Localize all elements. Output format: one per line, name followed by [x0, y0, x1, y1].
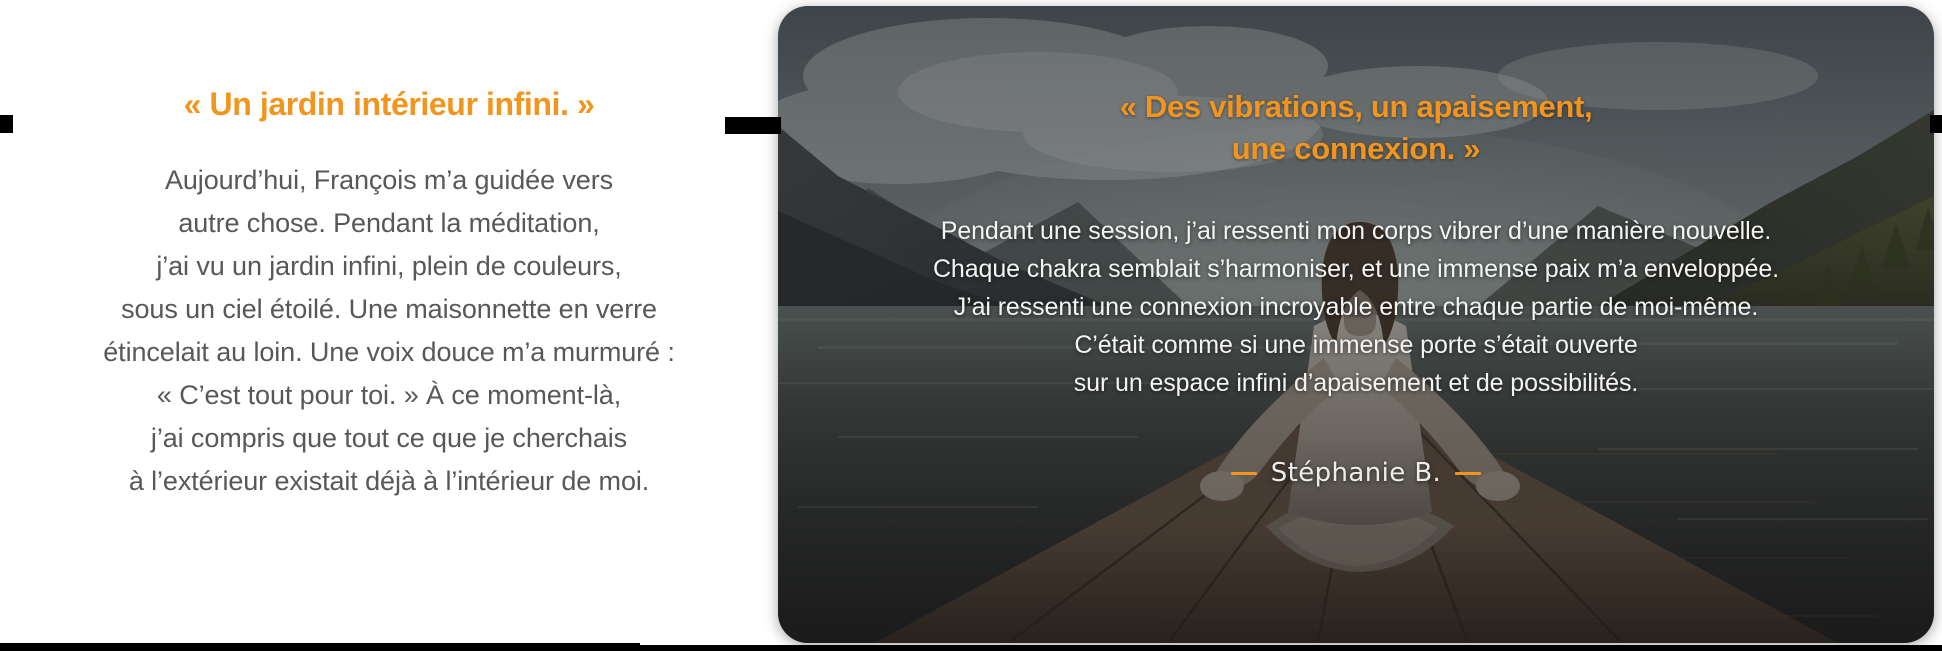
right-title-line: « Des vibrations, un apaisement, [1120, 86, 1593, 128]
left-testimonial-panel: « Un jardin intérieur infini. » Aujourd’… [0, 0, 778, 651]
crop-mark-right [1930, 115, 1942, 133]
testimonial-attribution: Stéphanie B. [778, 458, 1934, 488]
left-testimonial-body: Aujourd’hui, François m’a guidée vers au… [0, 159, 778, 503]
left-body-line: autre chose. Pendant la méditation, [0, 202, 778, 245]
left-body-line: étincelait au loin. Une voix douce m’a m… [0, 331, 778, 374]
attribution-author-name: Stéphanie B. [1271, 458, 1441, 488]
right-body-line: J’ai ressenti une connexion incroyable e… [933, 288, 1779, 326]
left-body-line: Aujourd’hui, François m’a guidée vers [0, 159, 778, 202]
testimonial-spread: « Un jardin intérieur infini. » Aujourd’… [0, 0, 1942, 651]
left-body-line: j’ai compris que tout ce que je cherchai… [0, 417, 778, 460]
dash-right-icon [1455, 472, 1481, 475]
crop-mark-center [725, 117, 781, 134]
left-body-line: à l’extérieur existait déjà à l’intérieu… [0, 460, 778, 503]
right-body-line: Pendant une session, j’ai ressenti mon c… [933, 212, 1779, 250]
crop-mark-left [0, 115, 13, 133]
right-title-line: une connexion. » [1120, 128, 1593, 170]
right-testimonial-content: « Des vibrations, un apaisement, une con… [778, 6, 1934, 643]
right-testimonial-title: « Des vibrations, un apaisement, une con… [1120, 86, 1593, 170]
right-body-line: Chaque chakra semblait s’harmoniser, et … [933, 250, 1779, 288]
left-body-line: sous un ciel étoilé. Une maisonnette en … [0, 288, 778, 331]
right-body-line: C’était comme si une immense porte s’éta… [933, 326, 1779, 364]
right-testimonial-card: « Des vibrations, un apaisement, une con… [778, 6, 1934, 643]
right-testimonial-body: Pendant une session, j’ai ressenti mon c… [933, 212, 1779, 402]
left-testimonial-title: « Un jardin intérieur infini. » [0, 86, 778, 123]
right-body-line: sur un espace infini d’apaisement et de … [933, 364, 1779, 402]
left-body-line: « C’est tout pour toi. » À ce moment-là, [0, 374, 778, 417]
crop-mark-bottom-edge [0, 645, 1942, 651]
dash-left-icon [1231, 472, 1257, 475]
left-body-line: j’ai vu un jardin infini, plein de coule… [0, 245, 778, 288]
